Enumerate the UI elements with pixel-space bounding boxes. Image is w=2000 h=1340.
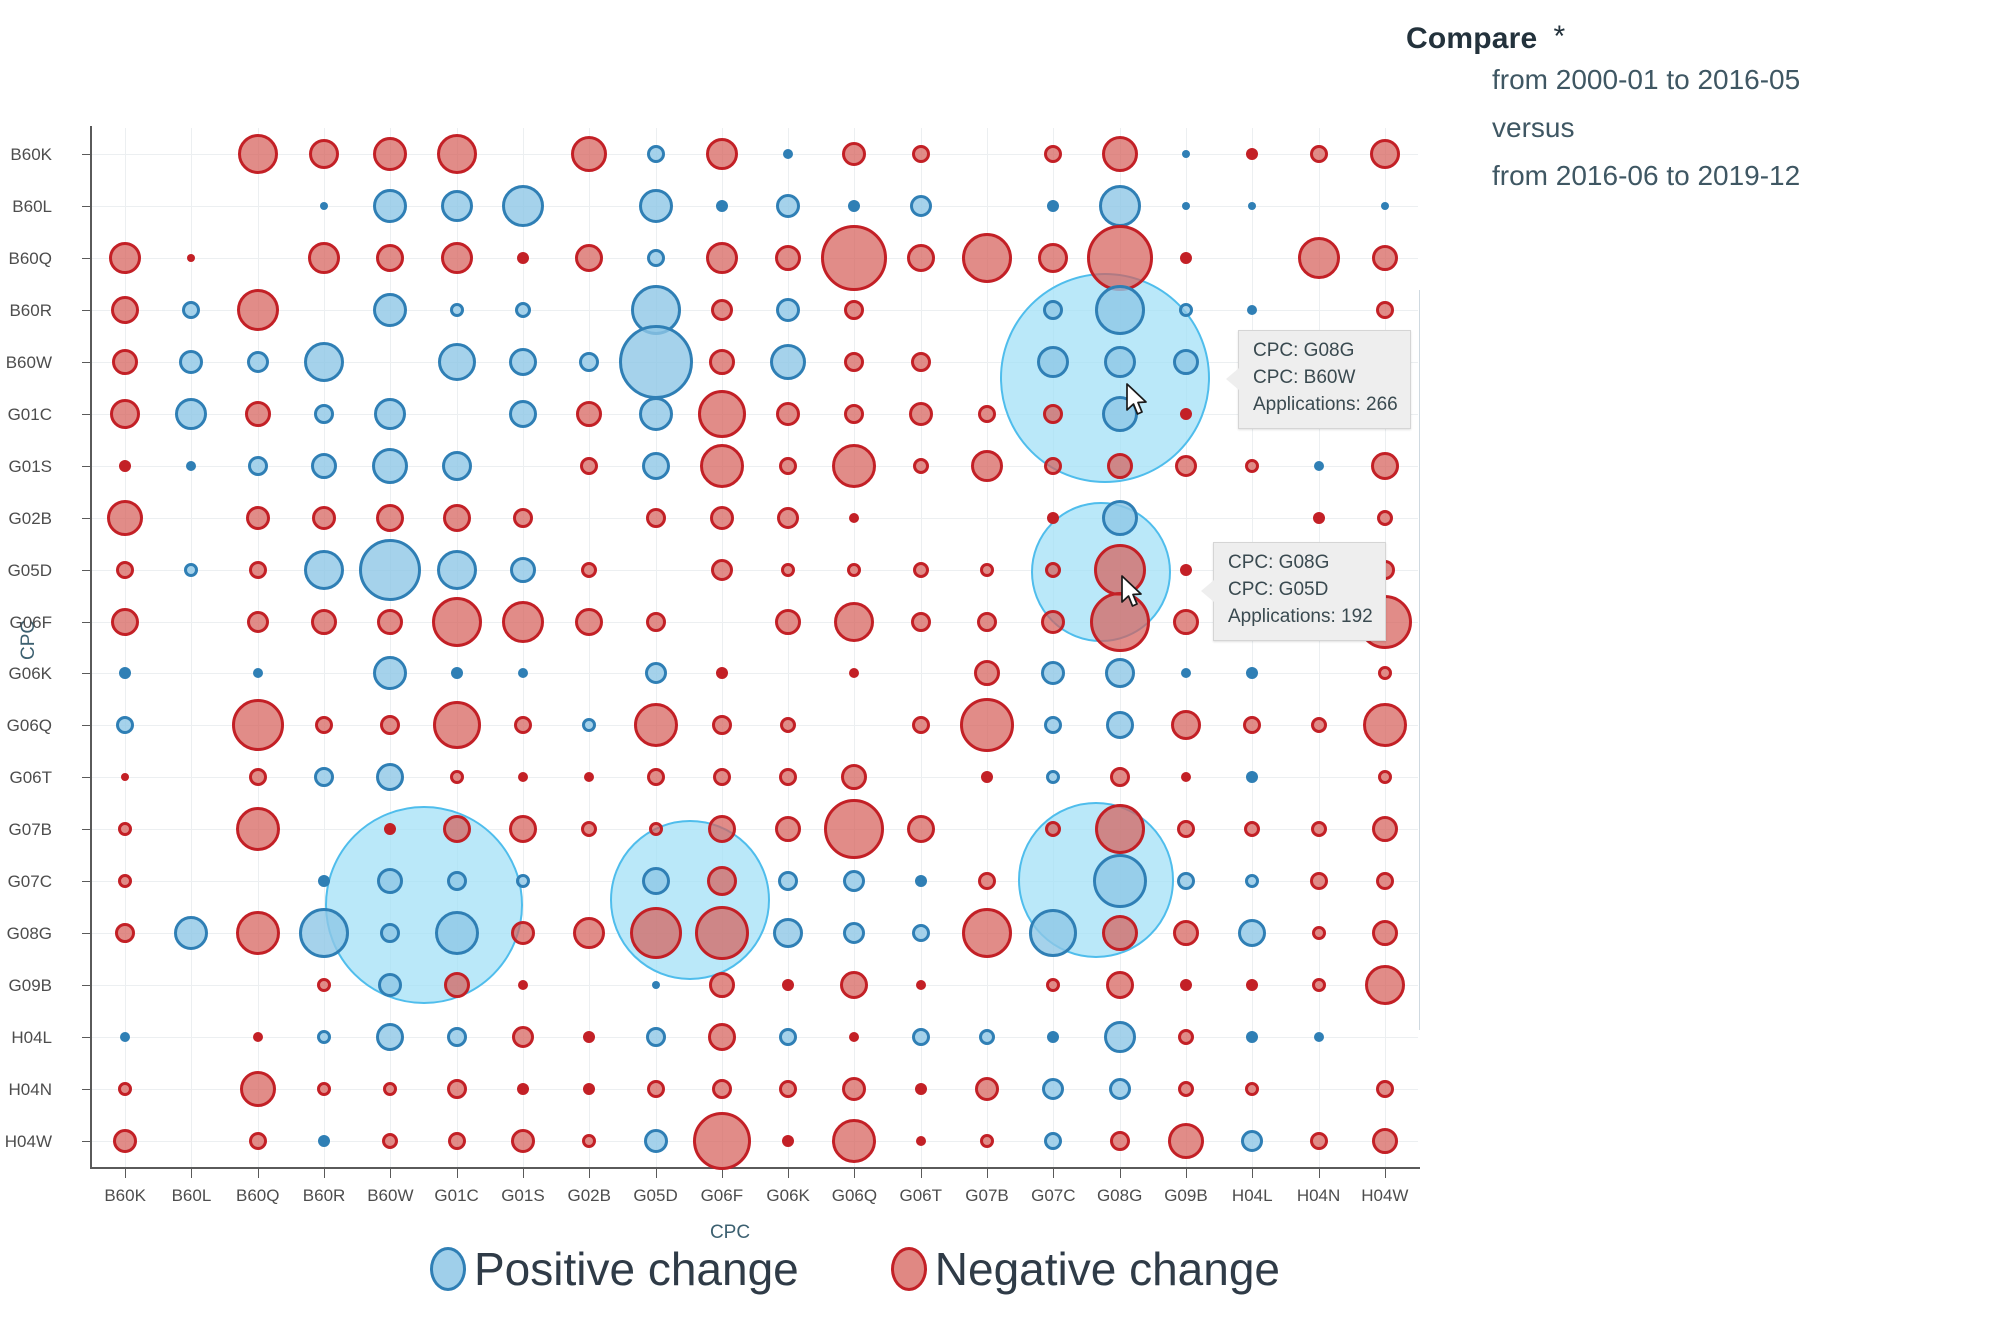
data-bubble[interactable] [1246, 1031, 1258, 1043]
data-bubble[interactable] [373, 656, 407, 690]
data-bubble[interactable] [1087, 225, 1153, 291]
data-bubble[interactable] [1248, 202, 1256, 210]
data-bubble[interactable] [1178, 1081, 1194, 1097]
data-bubble[interactable] [378, 973, 402, 997]
data-bubble[interactable] [174, 916, 208, 950]
data-bubble[interactable] [840, 971, 868, 999]
data-bubble[interactable] [110, 399, 140, 429]
data-bubble[interactable] [184, 563, 198, 577]
data-bubble[interactable] [119, 667, 131, 679]
data-bubble[interactable] [639, 189, 673, 223]
data-bubble[interactable] [513, 508, 533, 528]
data-bubble[interactable] [443, 815, 471, 843]
data-bubble[interactable] [962, 233, 1012, 283]
data-bubble[interactable] [646, 1027, 666, 1047]
data-bubble[interactable] [646, 508, 666, 528]
data-bubble[interactable] [240, 1071, 276, 1107]
data-bubble[interactable] [113, 1129, 137, 1153]
data-bubble[interactable] [1372, 816, 1398, 842]
data-bubble[interactable] [909, 402, 933, 426]
data-bubble[interactable] [1247, 305, 1257, 315]
data-bubble[interactable] [647, 768, 665, 786]
data-bubble[interactable] [912, 145, 930, 163]
data-bubble[interactable] [1311, 821, 1327, 837]
data-bubble[interactable] [514, 716, 532, 734]
data-bubble[interactable] [1044, 716, 1062, 734]
data-bubble[interactable] [237, 289, 279, 331]
data-bubble[interactable] [652, 981, 660, 989]
data-bubble[interactable] [509, 348, 537, 376]
legend-item-negative[interactable]: Negative change [891, 1242, 1280, 1296]
data-bubble[interactable] [647, 249, 665, 267]
data-bubble[interactable] [710, 506, 734, 530]
data-bubble[interactable] [317, 978, 331, 992]
data-bubble[interactable] [249, 768, 267, 786]
plot-area[interactable] [92, 128, 1418, 1167]
data-bubble[interactable] [432, 597, 482, 647]
data-bubble[interactable] [1245, 459, 1259, 473]
data-bubble[interactable] [1043, 300, 1063, 320]
data-bubble[interactable] [318, 1135, 330, 1147]
data-bubble[interactable] [821, 225, 887, 291]
data-bubble[interactable] [1045, 821, 1061, 837]
data-bubble[interactable] [1180, 564, 1192, 576]
data-bubble[interactable] [443, 504, 471, 532]
data-bubble[interactable] [962, 908, 1012, 958]
data-bubble[interactable] [843, 870, 865, 892]
data-bubble[interactable] [642, 867, 670, 895]
data-bubble[interactable] [1243, 716, 1261, 734]
data-bubble[interactable] [842, 1077, 866, 1101]
data-bubble[interactable] [515, 302, 531, 318]
data-bubble[interactable] [1178, 1029, 1194, 1045]
data-bubble[interactable] [380, 715, 400, 735]
data-bubble[interactable] [118, 822, 132, 836]
data-bubble[interactable] [644, 1129, 668, 1153]
data-bubble[interactable] [779, 457, 797, 475]
data-bubble[interactable] [1106, 711, 1134, 739]
data-bubble[interactable] [832, 1119, 876, 1163]
data-bubble[interactable] [111, 296, 139, 324]
data-bubble[interactable] [1310, 145, 1328, 163]
data-bubble[interactable] [707, 866, 737, 896]
data-bubble[interactable] [253, 1032, 263, 1042]
data-bubble[interactable] [776, 194, 800, 218]
data-bubble[interactable] [779, 1080, 797, 1098]
data-bubble[interactable] [1173, 609, 1199, 635]
data-bubble[interactable] [518, 980, 528, 990]
data-bubble[interactable] [1245, 874, 1259, 888]
data-bubble[interactable] [111, 608, 139, 636]
data-bubble[interactable] [516, 874, 530, 888]
data-bubble[interactable] [1171, 710, 1201, 740]
data-bubble[interactable] [109, 242, 141, 274]
data-bubble[interactable] [236, 807, 280, 851]
data-bubble[interactable] [711, 299, 733, 321]
data-bubble[interactable] [912, 924, 930, 942]
data-bubble[interactable] [253, 668, 263, 678]
data-bubble[interactable] [777, 507, 799, 529]
data-bubble[interactable] [980, 563, 994, 577]
data-bubble[interactable] [377, 609, 403, 635]
data-bubble[interactable] [312, 506, 336, 530]
data-bubble[interactable] [1246, 771, 1258, 783]
data-bubble[interactable] [844, 404, 864, 424]
data-bubble[interactable] [977, 612, 997, 632]
data-bubble[interactable] [847, 563, 861, 577]
data-bubble[interactable] [373, 137, 407, 171]
data-bubble[interactable] [581, 562, 597, 578]
data-bubble[interactable] [311, 453, 337, 479]
data-bubble[interactable] [511, 1129, 535, 1153]
data-bubble[interactable] [824, 799, 884, 859]
data-bubble[interactable] [634, 703, 678, 747]
data-bubble[interactable] [1245, 1082, 1259, 1096]
data-bubble[interactable] [509, 815, 537, 843]
data-bubble[interactable] [509, 400, 537, 428]
data-bubble[interactable] [246, 506, 270, 530]
data-bubble[interactable] [502, 185, 544, 227]
data-bubble[interactable] [1037, 346, 1069, 378]
data-bubble[interactable] [376, 1023, 404, 1051]
data-bubble[interactable] [1047, 512, 1059, 524]
data-bubble[interactable] [782, 1135, 794, 1147]
data-bubble[interactable] [712, 1079, 732, 1099]
data-bubble[interactable] [383, 1082, 397, 1096]
data-bubble[interactable] [783, 149, 793, 159]
data-bubble[interactable] [645, 662, 667, 684]
data-bubble[interactable] [1095, 285, 1145, 335]
data-bubble[interactable] [1312, 978, 1326, 992]
data-bubble[interactable] [1105, 658, 1135, 688]
data-bubble[interactable] [373, 189, 407, 223]
data-bubble[interactable] [575, 244, 603, 272]
data-bubble[interactable] [107, 500, 143, 536]
data-bubble[interactable] [832, 444, 876, 488]
data-bubble[interactable] [502, 601, 544, 643]
data-bubble[interactable] [120, 1032, 130, 1042]
data-bubble[interactable] [247, 351, 269, 373]
data-bubble[interactable] [844, 300, 864, 320]
data-bubble[interactable] [582, 1134, 596, 1148]
data-bubble[interactable] [441, 190, 473, 222]
data-bubble[interactable] [1047, 1031, 1059, 1043]
data-bubble[interactable] [1029, 909, 1077, 957]
data-bubble[interactable] [781, 563, 795, 577]
data-bubble[interactable] [518, 668, 528, 678]
data-bubble[interactable] [1107, 453, 1133, 479]
data-bubble[interactable] [907, 244, 935, 272]
data-bubble[interactable] [1102, 136, 1138, 172]
data-bubble[interactable] [849, 513, 859, 523]
data-bubble[interactable] [317, 1030, 331, 1044]
data-bubble[interactable] [834, 602, 874, 642]
data-bubble[interactable] [978, 405, 996, 423]
data-bubble[interactable] [308, 242, 340, 274]
data-bubble[interactable] [978, 872, 996, 890]
data-bubble[interactable] [1102, 500, 1138, 536]
data-bubble[interactable] [913, 562, 929, 578]
data-bubble[interactable] [1372, 245, 1398, 271]
data-bubble[interactable] [1313, 512, 1325, 524]
data-bubble[interactable] [1109, 1078, 1131, 1100]
data-bubble[interactable] [775, 609, 801, 635]
data-bubble[interactable] [1181, 772, 1191, 782]
data-bubble[interactable] [915, 875, 927, 887]
data-bubble[interactable] [911, 352, 931, 372]
data-bubble[interactable] [373, 293, 407, 327]
data-bubble[interactable] [1102, 915, 1138, 951]
data-bubble[interactable] [512, 1026, 534, 1048]
data-bubble[interactable] [1044, 145, 1062, 163]
data-bubble[interactable] [916, 980, 926, 990]
data-bubble[interactable] [376, 244, 404, 272]
data-bubble[interactable] [118, 1082, 132, 1096]
data-bubble[interactable] [1099, 185, 1141, 227]
data-bubble[interactable] [647, 145, 665, 163]
data-bubble[interactable] [646, 612, 666, 632]
data-bubble[interactable] [1173, 920, 1199, 946]
data-bubble[interactable] [304, 342, 344, 382]
data-bubble[interactable] [912, 1028, 930, 1046]
data-bubble[interactable] [518, 772, 528, 782]
data-bubble[interactable] [299, 908, 349, 958]
data-bubble[interactable] [1042, 1078, 1064, 1100]
data-bubble[interactable] [619, 325, 693, 399]
data-bubble[interactable] [773, 918, 803, 948]
data-bubble[interactable] [374, 398, 406, 430]
data-bubble[interactable] [775, 816, 801, 842]
data-bubble[interactable] [179, 350, 203, 374]
data-bubble[interactable] [232, 699, 284, 751]
data-bubble[interactable] [782, 979, 794, 991]
data-bubble[interactable] [1314, 461, 1324, 471]
data-bubble[interactable] [700, 444, 744, 488]
data-bubble[interactable] [579, 352, 599, 372]
data-bubble[interactable] [1104, 346, 1136, 378]
data-bubble[interactable] [438, 343, 476, 381]
data-bubble[interactable] [770, 344, 806, 380]
data-bubble[interactable] [119, 460, 131, 472]
data-bubble[interactable] [1246, 979, 1258, 991]
data-bubble[interactable] [706, 242, 738, 274]
data-bubble[interactable] [1177, 820, 1195, 838]
data-bubble[interactable] [186, 461, 196, 471]
data-bubble[interactable] [1371, 452, 1399, 480]
data-bubble[interactable] [112, 349, 138, 375]
data-bubble[interactable] [1363, 703, 1407, 747]
data-bubble[interactable] [630, 907, 682, 959]
data-bubble[interactable] [916, 1136, 926, 1146]
data-bubble[interactable] [1041, 661, 1065, 685]
data-bubble[interactable] [775, 245, 801, 271]
data-bubble[interactable] [571, 136, 607, 172]
data-bubble[interactable] [1372, 1128, 1398, 1154]
data-bubble[interactable] [318, 875, 330, 887]
data-bubble[interactable] [311, 609, 337, 635]
data-bubble[interactable] [511, 921, 535, 945]
data-bubble[interactable] [706, 138, 738, 170]
data-bubble[interactable] [842, 142, 866, 166]
data-bubble[interactable] [975, 1077, 999, 1101]
data-bubble[interactable] [435, 911, 479, 955]
data-bubble[interactable] [320, 202, 328, 210]
data-bubble[interactable] [1168, 1123, 1204, 1159]
data-bubble[interactable] [779, 768, 797, 786]
data-bubble[interactable] [187, 254, 195, 262]
data-bubble[interactable] [1110, 1131, 1130, 1151]
data-bubble[interactable] [1093, 854, 1147, 908]
data-bubble[interactable] [584, 772, 594, 782]
data-bubble[interactable] [249, 1132, 267, 1150]
data-bubble[interactable] [1376, 872, 1394, 890]
data-bubble[interactable] [317, 1082, 331, 1096]
data-bubble[interactable] [1241, 1130, 1263, 1152]
data-bubble[interactable] [712, 715, 732, 735]
data-bubble[interactable] [980, 1134, 994, 1148]
data-bubble[interactable] [441, 242, 473, 274]
data-bubble[interactable] [1181, 668, 1191, 678]
data-bubble[interactable] [960, 698, 1014, 752]
data-bubble[interactable] [384, 823, 396, 835]
data-bubble[interactable] [711, 559, 733, 581]
data-bubble[interactable] [1312, 926, 1326, 940]
data-bubble[interactable] [309, 139, 339, 169]
data-bubble[interactable] [1314, 1032, 1324, 1042]
data-bubble[interactable] [1044, 457, 1062, 475]
data-bubble[interactable] [649, 822, 663, 836]
data-bubble[interactable] [848, 200, 860, 212]
data-bubble[interactable] [907, 815, 935, 843]
data-bubble[interactable] [1377, 510, 1393, 526]
data-bubble[interactable] [709, 972, 735, 998]
legend-item-positive[interactable]: Positive change [430, 1242, 799, 1296]
data-bubble[interactable] [517, 252, 529, 264]
data-bubble[interactable] [433, 701, 481, 749]
data-bubble[interactable] [1043, 404, 1063, 424]
data-bubble[interactable] [1177, 872, 1195, 890]
data-bubble[interactable] [1182, 202, 1190, 210]
data-bubble[interactable] [1310, 872, 1328, 890]
data-bubble[interactable] [249, 561, 267, 579]
data-bubble[interactable] [1376, 1080, 1394, 1098]
data-bubble[interactable] [1047, 200, 1059, 212]
data-bubble[interactable] [447, 1079, 467, 1099]
data-bubble[interactable] [238, 134, 278, 174]
data-bubble[interactable] [1310, 1132, 1328, 1150]
data-bubble[interactable] [382, 1133, 398, 1149]
data-bubble[interactable] [304, 550, 344, 590]
data-bubble[interactable] [376, 504, 404, 532]
data-bubble[interactable] [182, 301, 200, 319]
data-bubble[interactable] [841, 764, 867, 790]
data-bubble[interactable] [849, 668, 859, 678]
data-bubble[interactable] [451, 667, 463, 679]
data-bubble[interactable] [1180, 408, 1192, 420]
data-bubble[interactable] [450, 770, 464, 784]
data-bubble[interactable] [716, 667, 728, 679]
data-bubble[interactable] [1238, 919, 1266, 947]
data-bubble[interactable] [377, 868, 403, 894]
data-bubble[interactable] [115, 923, 135, 943]
data-bubble[interactable] [1311, 717, 1327, 733]
data-bubble[interactable] [245, 401, 271, 427]
data-bubble[interactable] [1180, 979, 1192, 991]
data-bubble[interactable] [776, 402, 800, 426]
data-bubble[interactable] [175, 398, 207, 430]
data-bubble[interactable] [1246, 148, 1258, 160]
data-bubble[interactable] [1365, 965, 1405, 1005]
data-bubble[interactable] [716, 200, 728, 212]
data-bubble[interactable] [849, 1032, 859, 1042]
data-bubble[interactable] [981, 771, 993, 783]
data-bubble[interactable] [581, 821, 597, 837]
data-bubble[interactable] [116, 716, 134, 734]
data-bubble[interactable] [314, 404, 334, 424]
data-bubble[interactable] [510, 557, 536, 583]
data-bubble[interactable] [642, 452, 670, 480]
data-bubble[interactable] [713, 768, 731, 786]
data-bubble[interactable] [1110, 767, 1130, 787]
data-bubble[interactable] [376, 763, 404, 791]
data-bubble[interactable] [843, 922, 865, 944]
data-bubble[interactable] [1372, 920, 1398, 946]
data-bubble[interactable] [450, 303, 464, 317]
data-bubble[interactable] [1246, 667, 1258, 679]
data-bubble[interactable] [693, 1112, 751, 1170]
data-bubble[interactable] [1381, 202, 1389, 210]
data-bubble[interactable] [1045, 562, 1061, 578]
data-bubble[interactable] [444, 972, 470, 998]
data-bubble[interactable] [442, 451, 472, 481]
data-bubble[interactable] [695, 906, 749, 960]
data-bubble[interactable] [1376, 301, 1394, 319]
data-bubble[interactable] [248, 456, 268, 476]
data-bubble[interactable] [118, 874, 132, 888]
data-bubble[interactable] [974, 660, 1000, 686]
data-bubble[interactable] [1046, 978, 1060, 992]
data-bubble[interactable] [437, 134, 477, 174]
data-bubble[interactable] [314, 767, 334, 787]
data-bubble[interactable] [1179, 303, 1193, 317]
data-bubble[interactable] [1041, 610, 1065, 634]
data-bubble[interactable] [247, 611, 269, 633]
data-bubble[interactable] [911, 612, 931, 632]
data-bubble[interactable] [778, 871, 798, 891]
data-bubble[interactable] [1370, 139, 1400, 169]
data-bubble[interactable] [979, 1029, 995, 1045]
data-bubble[interactable] [380, 923, 400, 943]
data-bubble[interactable] [698, 390, 746, 438]
data-bubble[interactable] [437, 550, 477, 590]
data-bubble[interactable] [1106, 971, 1134, 999]
data-bubble[interactable] [708, 815, 736, 843]
data-bubble[interactable] [1044, 1132, 1062, 1150]
data-bubble[interactable] [779, 1028, 797, 1046]
data-bubble[interactable] [448, 1132, 466, 1150]
data-bubble[interactable] [776, 298, 800, 322]
data-bubble[interactable] [1173, 349, 1199, 375]
data-bubble[interactable] [647, 1080, 665, 1098]
data-bubble[interactable] [583, 1083, 595, 1095]
data-bubble[interactable] [780, 717, 796, 733]
data-bubble[interactable] [580, 457, 598, 475]
data-bubble[interactable] [1095, 804, 1145, 854]
data-bubble[interactable] [517, 1083, 529, 1095]
data-bubble[interactable] [910, 195, 932, 217]
data-bubble[interactable] [1378, 666, 1392, 680]
data-bubble[interactable] [912, 716, 930, 734]
